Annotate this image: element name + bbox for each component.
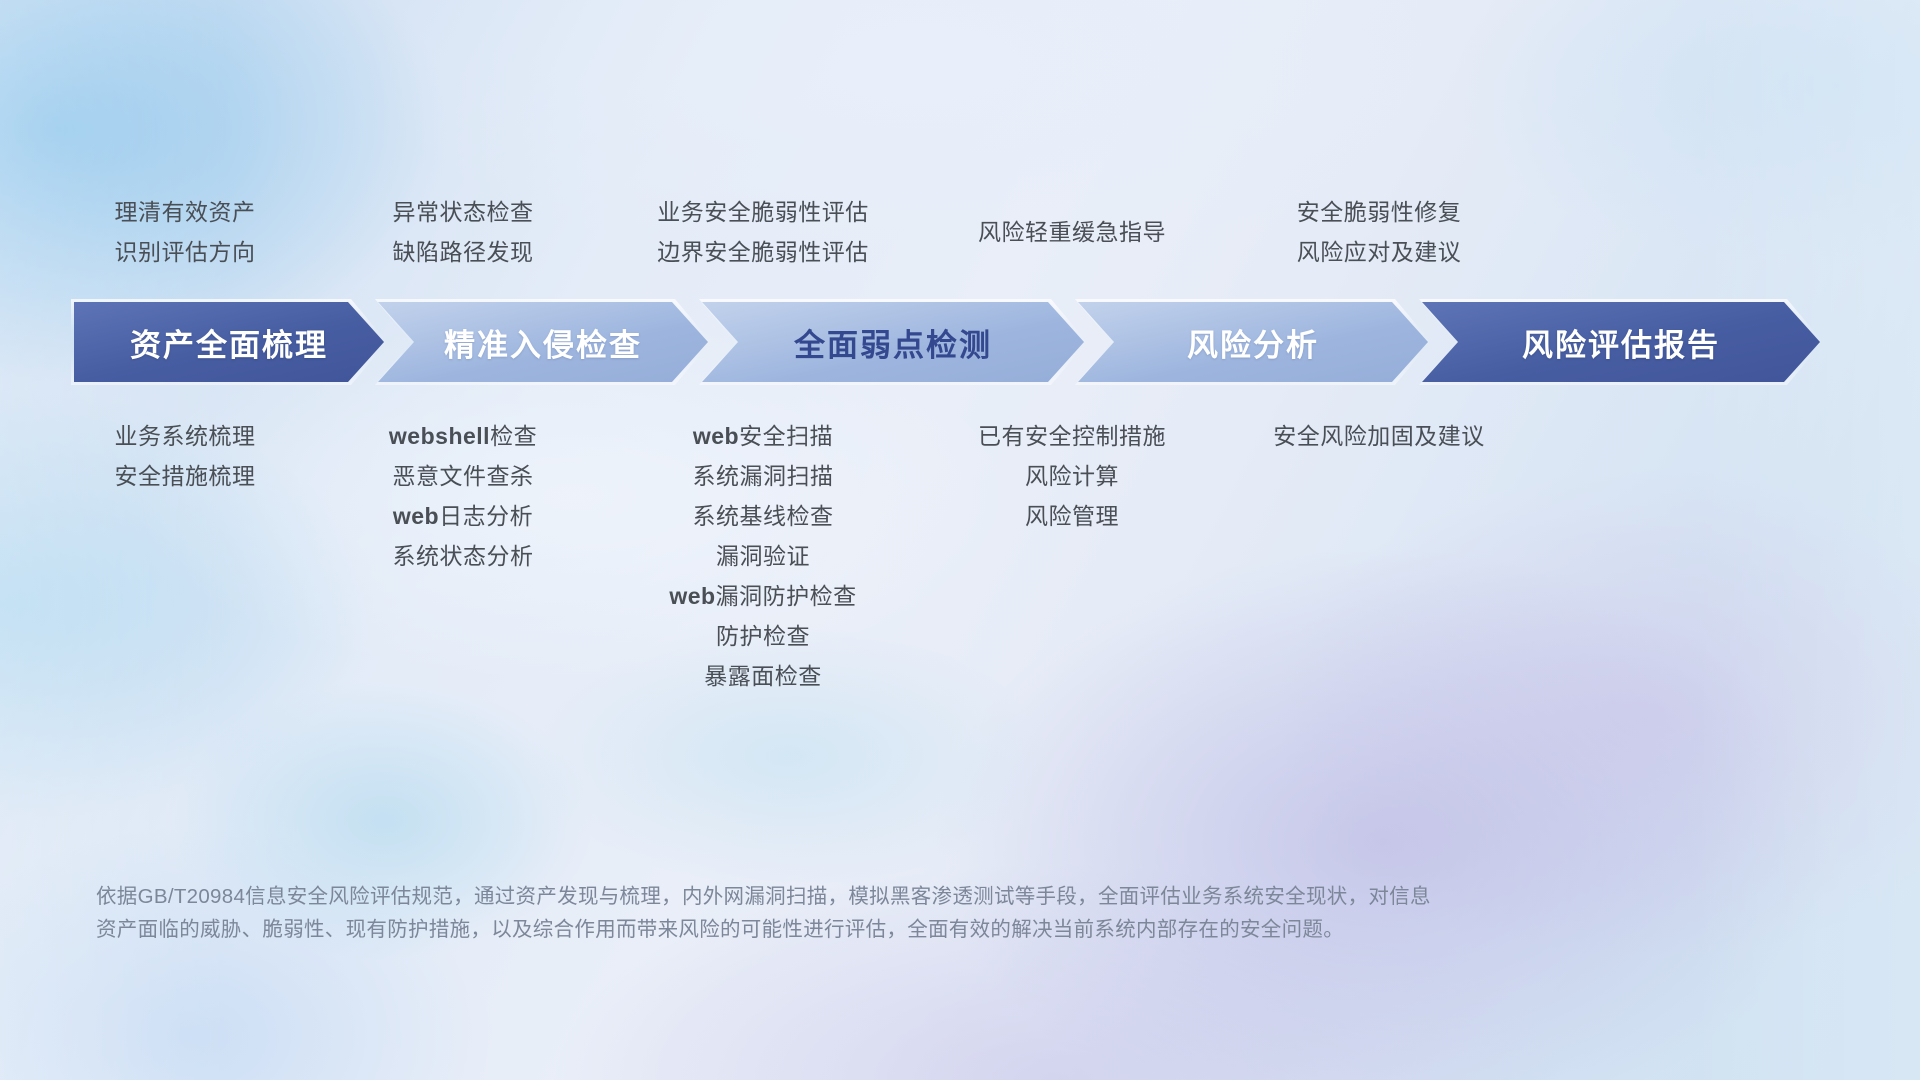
footer-description: 依据GB/T20984信息安全风险评估规范，通过资产发现与梳理，内外网漏洞扫描，… <box>96 880 1846 946</box>
stage-1-arrow[interactable]: 资产全面梳理 <box>74 302 384 382</box>
process-arrow-band: 资产全面梳理 精准入侵检查 全面弱点检测 风险分析 风险评估报告 <box>74 302 1820 382</box>
stage-5-outputs: 安全风险加固及建议 <box>979 416 1779 456</box>
stage-output-item: 防护检查 <box>363 616 1163 656</box>
footer-line-1: 依据GB/T20984信息安全风险评估规范，通过资产发现与梳理，内外网漏洞扫描，… <box>96 880 1846 913</box>
stage-3-arrow[interactable]: 全面弱点检测 <box>702 302 1084 382</box>
stage-output-item: web漏洞防护检查 <box>363 576 1163 616</box>
stage-input-item: 安全脆弱性修复 <box>979 192 1779 232</box>
footer-line-2: 资产面临的威胁、脆弱性、现有防护措施，以及综合作用而带来风险的可能性进行评估，全… <box>96 913 1846 946</box>
process-diagram: 理清有效资产识别评估方向 异常状态检查缺陷路径发现 业务安全脆弱性评估边界安全脆… <box>0 0 1920 1080</box>
stage-output-item: 风险管理 <box>672 496 1472 536</box>
stage-2-label: 精准入侵检查 <box>444 320 642 365</box>
stage-4-label: 风险分析 <box>1187 320 1319 365</box>
stage-input-item: 风险应对及建议 <box>979 232 1779 272</box>
stage-1-label: 资产全面梳理 <box>130 320 328 365</box>
stage-output-item: 安全风险加固及建议 <box>979 416 1779 456</box>
stage-5-label: 风险评估报告 <box>1522 320 1720 365</box>
stage-output-item: 风险计算 <box>672 456 1472 496</box>
stage-5-inputs: 安全脆弱性修复风险应对及建议 <box>979 192 1779 272</box>
stage-5-arrow[interactable]: 风险评估报告 <box>1422 302 1820 382</box>
stage-3-label: 全面弱点检测 <box>794 320 992 365</box>
stage-4-arrow[interactable]: 风险分析 <box>1078 302 1428 382</box>
stage-output-item: 漏洞验证 <box>363 536 1163 576</box>
stage-output-item: 暴露面检查 <box>363 656 1163 696</box>
stage-2-arrow[interactable]: 精准入侵检查 <box>378 302 708 382</box>
